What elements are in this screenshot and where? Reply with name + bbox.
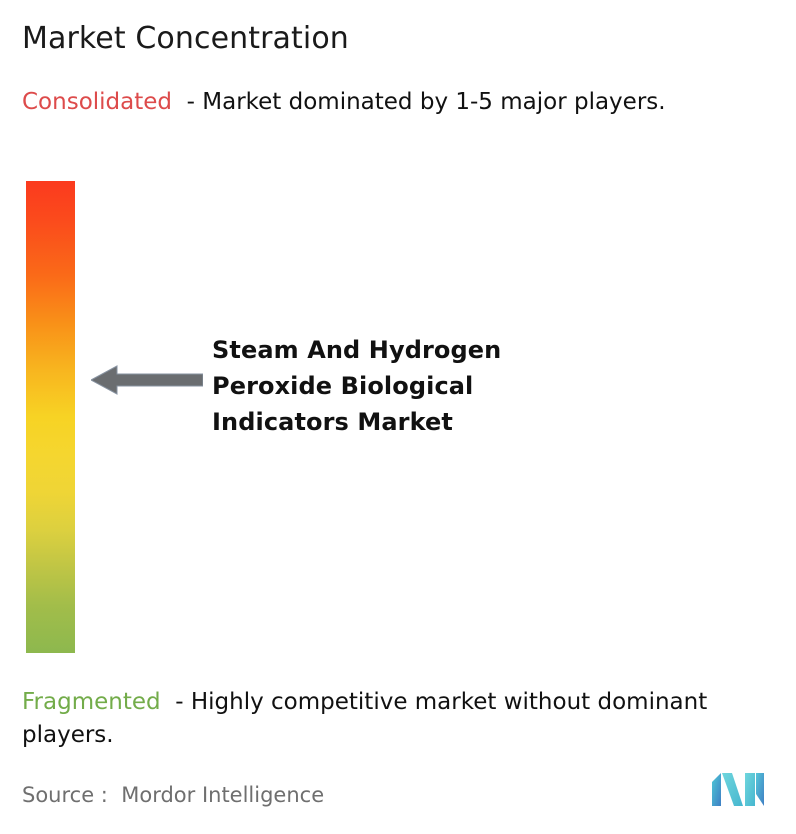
consolidated-term: Consolidated bbox=[22, 89, 172, 115]
consolidated-separator: - bbox=[172, 89, 202, 115]
fragmented-term: Fragmented bbox=[22, 689, 161, 715]
market-concentration-gradient-bar bbox=[26, 181, 75, 653]
chart-canvas: Market Concentration Consolidated - Mark… bbox=[0, 0, 796, 834]
market-pointer-arrow-icon bbox=[91, 365, 203, 395]
page-title: Market Concentration bbox=[22, 20, 349, 58]
consolidated-caption: Consolidated - Market dominated by 1-5 m… bbox=[22, 86, 762, 119]
mordor-intelligence-logo-icon bbox=[712, 772, 768, 812]
fragmented-caption: Fragmented - Highly competitive market w… bbox=[22, 686, 787, 752]
consolidated-description: Market dominated by 1-5 major players. bbox=[202, 89, 665, 115]
fragmented-separator: - bbox=[161, 689, 191, 715]
source-attribution: Source : Mordor Intelligence bbox=[22, 781, 324, 809]
market-name-label: Steam And Hydrogen Peroxide Biological I… bbox=[212, 332, 572, 440]
